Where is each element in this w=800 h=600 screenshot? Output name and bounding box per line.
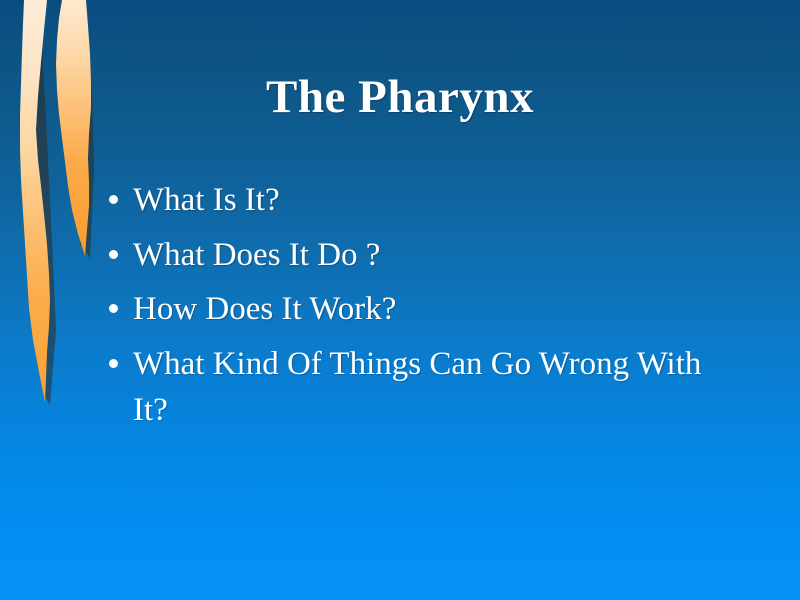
ribbon-left	[20, 0, 50, 402]
bullet-text: What Is It?	[133, 182, 280, 218]
bullet-text: How Does It Work?	[133, 291, 396, 327]
list-item: What Is It?	[104, 177, 704, 224]
bullet-marker-icon	[109, 195, 118, 204]
ribbon-right	[56, 0, 91, 256]
bullet-marker-icon	[109, 359, 118, 368]
bullet-marker-icon	[109, 250, 118, 259]
presentation-slide: The Pharynx What Is It? What Does It Do …	[0, 0, 800, 600]
ribbon-right-shadow	[68, 0, 94, 258]
ribbon-left-shadow	[28, 6, 56, 405]
bullet-marker-icon	[109, 304, 118, 313]
bullet-text: What Does It Do ?	[133, 237, 380, 273]
slide-title: The Pharynx	[0, 72, 800, 123]
list-item: How Does It Work?	[104, 286, 704, 333]
bullet-text: What Kind Of Things Can Go Wrong With It…	[133, 346, 701, 429]
list-item: What Does It Do ?	[104, 232, 704, 279]
bullet-list: What Is It? What Does It Do ? How Does I…	[104, 177, 704, 442]
list-item: What Kind Of Things Can Go Wrong With It…	[104, 341, 704, 434]
